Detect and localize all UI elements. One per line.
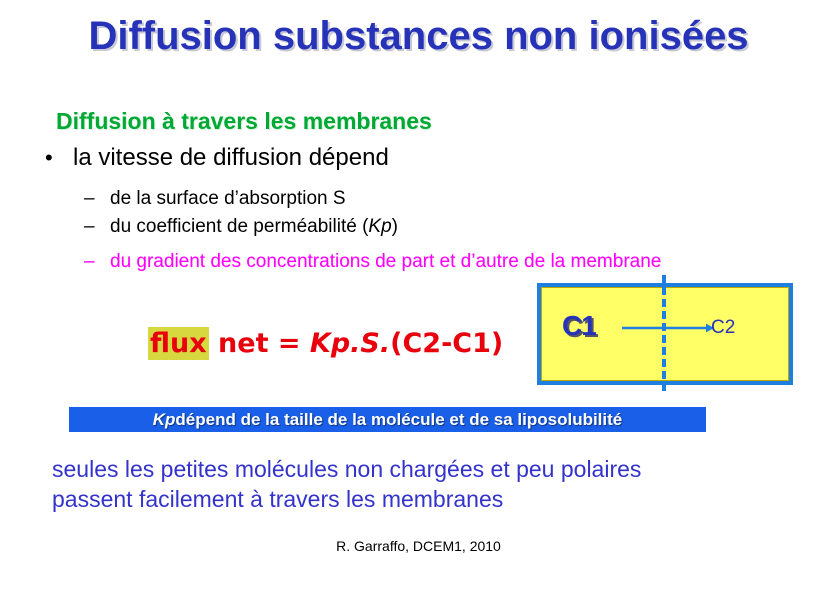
formula-italic-part: Kp.S. [310,328,390,359]
formula-middle-text: net = [209,328,310,359]
formula-tail-text: (C2-C1) [390,328,503,359]
conclusion-text: seules les petites molécules non chargée… [52,455,792,515]
page-title: Diffusion substances non ionisées [0,14,837,59]
bullet-coefficient-label: du coefficient de perméabilité (Kp) [110,216,398,238]
coefficient-text-after: ) [392,216,398,237]
bullet-dash-icon: – [84,216,110,238]
flux-arrow-icon [622,322,714,334]
concentration-label-c2: C2 [711,317,735,339]
bullet-dash-icon: – [84,250,110,275]
conclusion-line-1: seules les petites molécules non chargée… [52,455,792,485]
bullet-item-coefficient: – du coefficient de perméabilité (Kp) [84,216,398,238]
section-heading: Diffusion à travers les membranes [56,108,432,135]
bullet-dash-icon: – [84,188,110,210]
banner-kp-symbol: Kp [153,410,176,430]
formula-highlighted-word: flux [148,327,209,360]
coefficient-text-before: du coefficient de perméabilité ( [110,216,368,237]
slide-canvas: Diffusion substances non ionisées Diffus… [0,0,837,589]
bullet-item-surface: – de la surface d’absorption S [84,188,346,210]
bullet-surface-label: de la surface d’absorption S [110,188,346,210]
bullet-item-level1: • la vitesse de diffusion dépend [45,144,389,172]
conclusion-line-2: passent facilement à travers les membran… [52,485,792,515]
kp-highlight-banner: Kp dépend de la taille de la molécule et… [69,407,706,432]
flux-formula: flux net = Kp.S.(C2-C1) [148,328,503,359]
bullet-level1-label: la vitesse de diffusion dépend [73,144,389,172]
concentration-label-c1: C1 [562,310,596,342]
membrane-diffusion-diagram: C1 C2 [534,270,796,400]
coefficient-kp-symbol: Kp [368,216,391,237]
bullet-dot-icon: • [45,147,73,169]
banner-text: dépend de la taille de la molécule et de… [175,410,622,430]
footer-credit: R. Garraffo, DCEM1, 2010 [0,538,837,554]
